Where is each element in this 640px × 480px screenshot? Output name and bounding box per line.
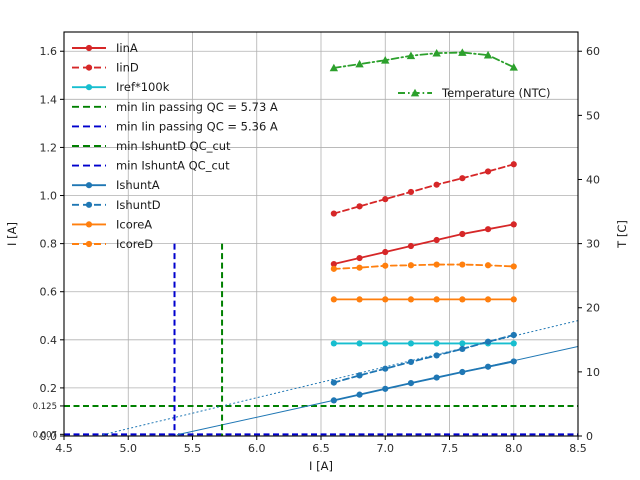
marker-icorea (382, 296, 388, 302)
x-tick-label: 4.5 (55, 442, 73, 455)
marker-iref-100k (511, 340, 517, 346)
y-tick-label-extra: 0.007 (33, 430, 57, 440)
legend-marker-7 (86, 182, 92, 188)
y2-tick-label: 20 (586, 302, 600, 315)
marker-icorea (434, 296, 440, 302)
marker-iind (331, 210, 337, 216)
x-tick-label: 5.5 (184, 442, 202, 455)
y2-axis-label: T [C] (615, 220, 629, 249)
marker-iref-100k (331, 340, 337, 346)
marker-icorea (459, 296, 465, 302)
y-tick-label: 1.6 (40, 45, 58, 58)
figure-background (0, 0, 640, 480)
marker-ishuntd (408, 359, 414, 365)
marker-ishunta (485, 364, 491, 370)
marker-iind (511, 161, 517, 167)
marker-iind (434, 182, 440, 188)
x-axis-label: I [A] (309, 459, 333, 473)
marker-ishuntd (511, 332, 517, 338)
marker-icorea (408, 296, 414, 302)
marker-ishunta (382, 386, 388, 392)
legend-marker-8 (86, 202, 92, 208)
legend-label-4: min Iin passing QC = 5.36 A (116, 119, 278, 133)
legend-label-9: IcoreA (116, 217, 152, 231)
legend-label-7: IshuntA (116, 178, 160, 192)
y2-tick-label: 50 (586, 109, 600, 122)
legend-label-10: IcoreD (116, 237, 153, 251)
y-tick-label: 1.0 (40, 190, 58, 203)
marker-ishunta (356, 392, 362, 398)
marker-icorea (331, 296, 337, 302)
chart-svg: 4.55.05.56.06.57.07.58.08.50.00.20.40.60… (0, 0, 640, 480)
marker-iina (408, 243, 414, 249)
legend-label-5: min IshuntD QC_cut (116, 139, 231, 153)
marker-iina (356, 255, 362, 261)
x-tick-label: 8.0 (505, 442, 523, 455)
marker-iina (485, 226, 491, 232)
marker-iref-100k (382, 340, 388, 346)
figure: Currents for chip: 0x20c48 4.55.05.56.06… (0, 0, 640, 480)
marker-ishuntd (331, 380, 337, 386)
marker-iind (356, 203, 362, 209)
marker-icorea (485, 296, 491, 302)
legend-label-2: Iref*100k (116, 80, 170, 94)
marker-iref-100k (356, 340, 362, 346)
legend-label-0: IinA (116, 41, 138, 55)
marker-iref-100k (408, 340, 414, 346)
legend-label-1: IinD (116, 61, 139, 75)
legend-marker-1 (86, 65, 92, 71)
y-tick-label: 1.4 (40, 93, 58, 106)
y2-tick-label: 10 (586, 366, 600, 379)
y-tick-label: 0.4 (40, 334, 58, 347)
y-tick-label: 0.2 (40, 382, 58, 395)
y-axis-label: I [A] (5, 222, 19, 246)
y2-tick-label: 0 (586, 430, 593, 443)
y2-tick-label: 60 (586, 45, 600, 58)
legend-label-8: IshuntD (116, 198, 161, 212)
marker-iina (511, 221, 517, 227)
legend-label-3: min Iin passing QC = 5.73 A (116, 100, 278, 114)
legend-marker-0 (86, 45, 92, 51)
marker-ishunta (459, 369, 465, 375)
y-tick-label-extra: 0.125 (33, 402, 57, 412)
marker-iind (459, 175, 465, 181)
y2-tick-label: 30 (586, 238, 600, 251)
legend-marker-10 (86, 241, 92, 247)
y-tick-label: 0.8 (40, 238, 58, 251)
marker-icorea (356, 296, 362, 302)
marker-icored (485, 262, 491, 268)
marker-icorea (511, 296, 517, 302)
marker-ishunta (434, 374, 440, 380)
marker-icored (511, 263, 517, 269)
legend-marker-2 (86, 84, 92, 90)
x-tick-label: 8.5 (569, 442, 587, 455)
marker-iina (382, 249, 388, 255)
marker-iina (459, 231, 465, 237)
marker-ishuntd (382, 366, 388, 372)
marker-icored (356, 265, 362, 271)
marker-ishunta (408, 380, 414, 386)
plot-area: 4.55.05.56.06.57.07.58.08.50.00.20.40.60… (0, 0, 640, 480)
marker-iind (382, 196, 388, 202)
legend-label-6: min IshuntA QC_cut (116, 159, 230, 173)
marker-iref-100k (459, 340, 465, 346)
marker-iind (408, 189, 414, 195)
x-tick-label: 6.5 (312, 442, 330, 455)
marker-iref-100k (434, 340, 440, 346)
marker-ishunta (511, 358, 517, 364)
marker-ishuntd (434, 352, 440, 358)
marker-icored (408, 262, 414, 268)
marker-icored (382, 263, 388, 269)
legend-marker-9 (86, 221, 92, 227)
y2-tick-label: 40 (586, 173, 600, 186)
marker-icored (434, 261, 440, 267)
marker-ishunta (331, 397, 337, 403)
marker-iina (434, 237, 440, 243)
legend2-label-0: Temperature (NTC) (441, 86, 550, 100)
marker-icored (331, 266, 337, 272)
marker-ishuntd (485, 339, 491, 345)
y-tick-label: 0.6 (40, 286, 58, 299)
x-tick-label: 7.5 (441, 442, 459, 455)
x-tick-label: 7.0 (377, 442, 395, 455)
marker-ishuntd (356, 372, 362, 378)
marker-icored (459, 261, 465, 267)
y-tick-label: 1.2 (40, 141, 58, 154)
marker-ishuntd (459, 346, 465, 352)
x-tick-label: 5.0 (120, 442, 138, 455)
marker-iind (485, 168, 491, 174)
x-tick-label: 6.0 (248, 442, 266, 455)
